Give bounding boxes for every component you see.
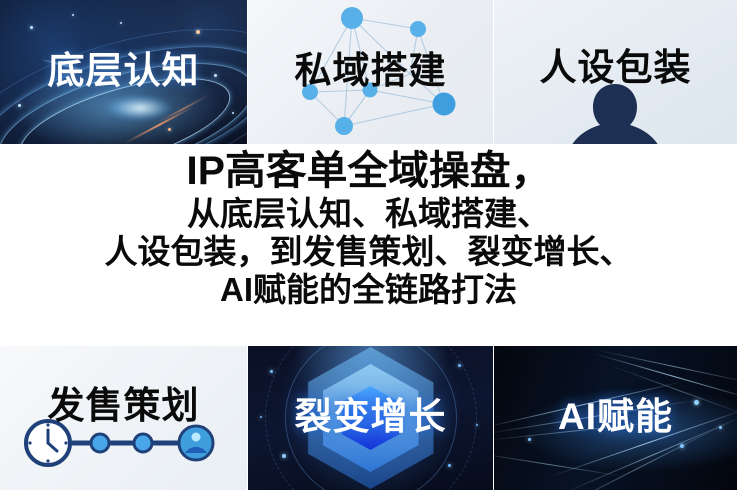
particle-dot-icon: [448, 464, 451, 467]
particle-dot-icon: [458, 364, 461, 367]
tile-launch-planning[interactable]: 发售策划: [0, 346, 247, 490]
tile-fission-growth[interactable]: 裂变增长: [248, 346, 493, 490]
glow-core-icon: [108, 96, 172, 120]
particle-dot-icon: [30, 26, 33, 29]
tile-foundational-cognition[interactable]: 底层认知: [0, 0, 247, 144]
particle-dot-icon: [120, 22, 122, 24]
headline-line-3: 人设包装，到发售策划、裂变增长、: [105, 235, 633, 268]
poster-canvas: 底层认知: [0, 0, 737, 490]
bottom-tile-row: 发售策划 裂变增长: [0, 346, 737, 490]
tile-private-domain-build[interactable]: 私域搭建: [248, 0, 493, 144]
tile-label-foundational-cognition: 底层认知: [0, 40, 247, 94]
headline-line-2: 从底层认知、私域搭建、: [187, 197, 550, 230]
particle-dot-icon: [232, 112, 234, 114]
particle-dot-icon: [282, 454, 286, 458]
tile-label-private-domain-build: 私域搭建: [248, 40, 493, 94]
particle-dot-icon: [168, 128, 171, 131]
top-tile-row: 底层认知: [0, 0, 737, 144]
tile-label-persona-packaging: 人设包装: [494, 37, 737, 91]
headline-line-1: IP高客单全域操盘，: [186, 151, 551, 191]
particle-dot-icon: [72, 14, 74, 16]
tile-label-ai-empowerment: AI赋能: [494, 386, 737, 440]
tile-label-fission-growth: 裂变增长: [248, 386, 493, 440]
tile-persona-packaging[interactable]: 人设包装: [494, 0, 737, 144]
tile-ai-empowerment[interactable]: AI赋能: [494, 346, 737, 490]
particle-dot-icon: [18, 104, 21, 107]
headline-block: IP高客单全域操盘， 从底层认知、私域搭建、 人设包装，到发售策划、裂变增长、 …: [0, 144, 737, 346]
tile-label-launch-planning: 发售策划: [0, 375, 247, 429]
particle-dot-icon: [196, 30, 200, 34]
particle-dot-icon: [680, 444, 684, 448]
headline-line-4: AI赋能的全链路打法: [220, 273, 517, 306]
particle-dot-icon: [270, 370, 273, 373]
